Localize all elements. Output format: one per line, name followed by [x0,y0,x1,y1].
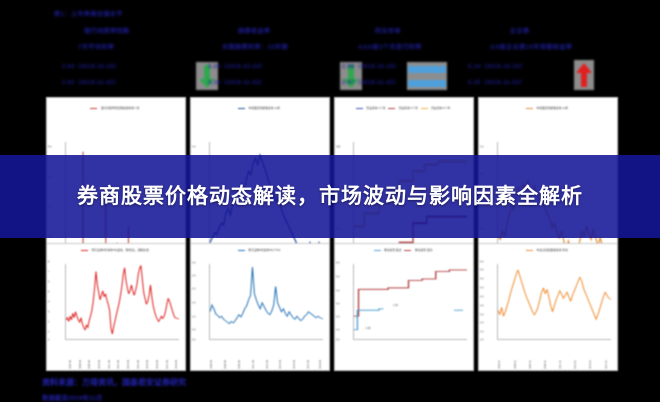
chart-6-line [210,264,324,339]
chart-5-xtick-8: 2015-06 [146,360,149,369]
chart-6-xtick-5: 2014-06 [279,360,282,369]
chart-panel-8: 中证全债指数收益率:年化 6.0 5.5 5.0 4.5 4.0 3.5 3.0… [478,243,618,371]
header-col-2-name: 同业存单 [375,26,401,35]
page-title: 券商股票价格动态解读，市场波动与影响因素全解析 [0,155,660,238]
chart-5-ytick-8: 0 [48,338,49,341]
chart-8-xtick-4: 2011-01 [559,360,562,369]
chart-8-ytick-6: 3.0 [480,313,484,316]
chart-4-legend: 中债国债到期收益率:10年 [479,106,617,110]
header-col-3-subtitle: AA级企业债10年到期收益率 [490,42,572,51]
header-col-3-row-0: 5.14（2019-10-24） [468,62,526,70]
chart-5-legend: 申万证券Ⅱ市净率PB(最新，整体法)，剔除负值 [47,248,185,252]
chart-8-plot [497,264,612,340]
equals-icon [407,62,447,90]
chart-6-xtick-6: 2015-06 [293,360,296,369]
chart-8-ytick-8: 2.0 [480,331,484,334]
chart-5-xtick-7: 2014-06 [137,360,140,369]
chart-6-ytick-5: 0.5 [192,328,196,331]
chart-6-legend: 申万证券Ⅱ市盈率PE(TTM) [191,248,329,252]
chart-7-annotation-1: 1.38 [365,327,370,330]
header-col-3-name: 企业债 [510,26,530,35]
chart-7-ytick-0: 6.0 [336,261,340,264]
chart-panel-5: 申万证券Ⅱ市净率PB(最新，整体法)，剔除负值 8 7 6 5 4 3 2 1 … [46,243,186,371]
header-col-2-row-1: 2.97（2019-11-02） [342,78,400,86]
chart-6-xtick-1: 2008-06 [224,360,227,369]
chart-3-legend: 同业存单:1个月 同业存单:3个月 同业存单:6个月 [335,106,473,110]
chart-8-line [498,264,612,339]
chart-6-ytick-0: 3.0 [192,261,196,264]
chart-6-plot [209,264,324,340]
chart-5-ytick-3: 5 [48,290,49,293]
chart-8-xtick-5: 2013-01 [574,360,577,369]
chart-5-xtick-2: 2009-06 [88,360,91,369]
chart-panel-6: 申万证券Ⅱ市盈率PE(TTM) 3.0 2.5 2.0 1.5 1.0 0.5 … [190,243,330,371]
chart-7-ytick-2: 4.0 [336,289,340,292]
chart-8-xtick-7: 2017-01 [605,360,608,369]
chart-6-xtick-8: 2018-06 [319,360,322,369]
chart-5-ytick-5: 3 [48,311,49,314]
chart-5-ytick-2: 6 [48,280,49,283]
chart-5-xtick-5: 2012-06 [117,360,120,369]
chart-5-xtick-1: 2008-06 [79,360,82,369]
chart-7-legend: 券商资管:集合 券商资管:定向 [335,248,473,252]
screenshot-root: 表1：上市券商估值水平 银行间质押回购 7天平均利率 2.64（2019-10-… [0,0,660,400]
header-col-0-name: 银行间质押回购 [84,26,130,35]
chart-6-xtick-0: 2006-06 [210,360,213,369]
chart-6-xtick-2: 2009-06 [238,360,241,369]
chart-7-annotation-0: 1.25 [393,304,398,307]
chart-8-ytick-2: 5.0 [480,278,484,281]
chart-8-xtick-0: 2003-01 [498,360,501,369]
chart-8-ytick-3: 4.5 [480,287,484,290]
header-col-0-subtitle: 7天平均利率 [78,42,114,51]
chart-5-ytick-1: 7 [48,270,49,273]
chart-8-ytick-1: 5.5 [480,269,484,272]
chart-5-plot [65,264,180,340]
chart-5-line [66,264,180,339]
chart-6-ytick-3: 1.5 [192,302,196,305]
header-col-0-row-1: 2.62（2019-11-02） [62,78,120,86]
chart-8-ytick-4: 4.0 [480,295,484,298]
chart-5-xtick-3: 2010-06 [98,360,101,369]
chart-5-xtick-6: 2013-06 [127,360,130,369]
chart-2-legend: 中债国债到期收益率:10年 [191,106,329,110]
chart-7-ytick-1: 5.0 [336,275,340,278]
chart-panel-7: 券商资管:集合 券商资管:定向 1.25 1.38 6.0 5.0 4.0 3.… [334,243,474,371]
header-col-0-row-0: 2.64（2019-10-24） [62,62,120,70]
header-col-1-row-0: 3.20（2019-10-24） [208,62,266,70]
chart-7-ytick-5: 1.0 [336,328,340,331]
chart-8-ytick-0: 6.0 [480,260,484,263]
chart-6-xtick-3: 2011-06 [252,360,255,369]
table-title: 表1：上市券商估值水平 [54,9,123,18]
chart-8-ytick-7: 2.5 [480,322,484,325]
chart-2-ytick-0: 4.0 [192,145,196,148]
chart-8-ytick-5: 3.5 [480,304,484,307]
chart-6-ytick-6: 0.0 [192,338,196,341]
chart-7-ytick-4: 2.0 [336,316,340,319]
chart-7-ytick-3: 3.0 [336,303,340,306]
chart-6-ytick-1: 2.5 [192,274,196,277]
header-col-3-row-1: 5.25（2019-11-02） [468,78,526,86]
chart-5-xtick-9: 2016-06 [156,360,159,369]
header-col-1-subtitle: 长期国债利率：10年期 [222,42,288,51]
arrow-up-icon [574,60,594,90]
chart-3-ytick-0: 180 [336,145,340,148]
chart-5-ytick-0: 8 [48,260,49,263]
header-col-1-name: 国债收益率 [238,26,271,35]
header-col-2-subtitle: AAA级3个月发行利率 [358,42,422,51]
header-col-2-row-0: 2.98（2019-10-24） [342,62,400,70]
chart-5-ytick-4: 4 [48,300,49,303]
chart-1-ytick-0: 8.0 [48,145,52,148]
chart-4-ytick-0: 3.2 [480,145,484,148]
chart-8-ytick-9: 1.5 [480,338,484,341]
chart-8-xtick-6: 2015-01 [589,360,592,369]
chart-5-ytick-7: 1 [48,331,49,334]
chart-5-xtick-4: 2011-06 [108,360,111,369]
chart-6-ytick-4: 1.0 [192,316,196,319]
chart-8-xtick-3: 2009-01 [544,360,547,369]
chart-5-xtick-0: 2007-06 [69,360,72,369]
chart-5-xtick-10: 2017-06 [166,360,169,369]
footer-note: 数据截至2019年11月 [42,392,102,402]
chart-6-xtick-7: 2017-06 [307,360,310,369]
chart-5-ytick-6: 2 [48,321,49,324]
chart-6-xtick-4: 2012-06 [266,360,269,369]
chart-8-legend: 中证全债指数收益率:年化 [479,248,617,252]
chart-8-xtick-2: 2007-01 [529,360,532,369]
chart-1-legend: 银行间质押式回购加权利率:7天 [47,106,185,110]
chart-7-lines [354,264,468,339]
header-col-1-row-1: 3.18（2019-11-02） [208,78,266,86]
chart-7-ytick-6: 0.0 [336,338,340,341]
chart-8-xtick-1: 2005-01 [514,360,517,369]
chart-6-ytick-2: 2.0 [192,288,196,291]
footer-source: 资料来源：万得资讯，国泰君安证券研究 [42,377,186,388]
chart-5-xtick-11: 2018-06 [175,360,178,369]
